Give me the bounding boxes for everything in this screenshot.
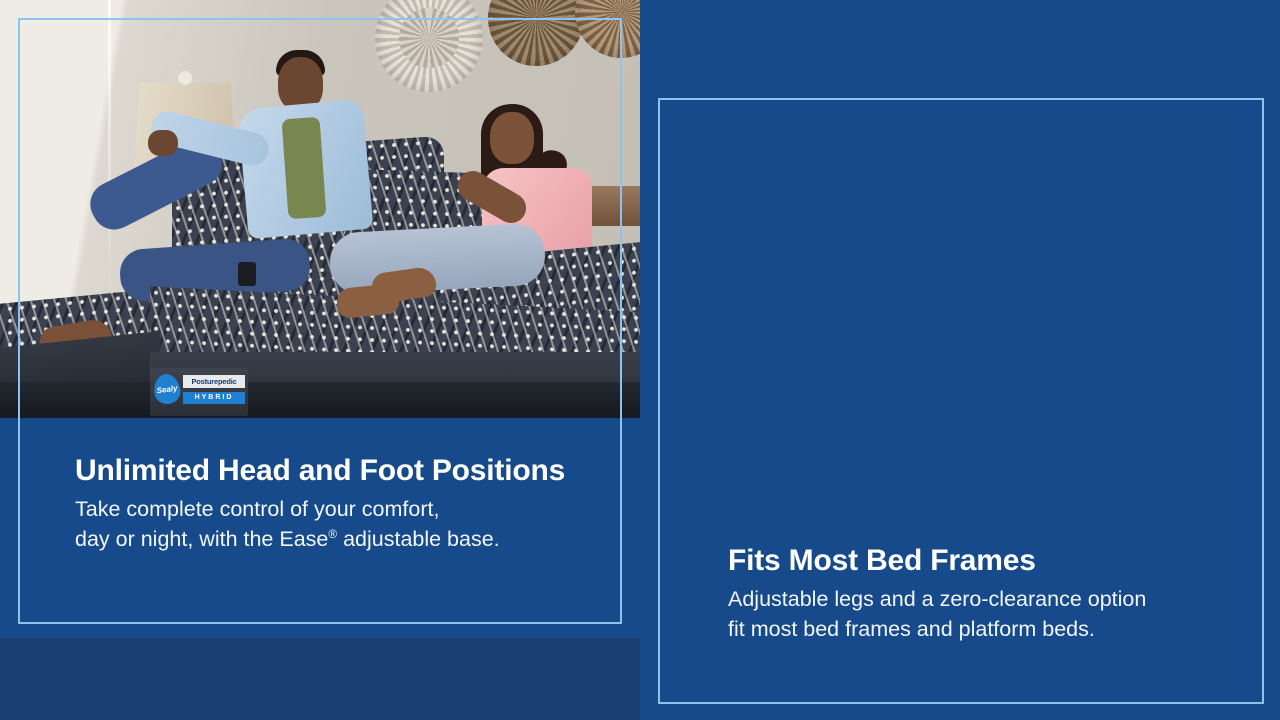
- right-caption-body: Adjustable legs and a zero-clearance opt…: [728, 584, 1248, 645]
- right-feature-panel: Fits Most Bed Frames Adjustable legs and…: [640, 0, 1280, 720]
- posturepedic-text: Posturepedic PLUS: [183, 375, 245, 388]
- left-caption-body: Take complete control of your comfort, d…: [75, 494, 595, 555]
- right-caption-line-1: Adjustable legs and a zero-clearance opt…: [728, 584, 1248, 615]
- person-right-head: [490, 112, 534, 164]
- sealy-brand-text: Sealy: [152, 372, 182, 405]
- promo-banner: Sealy Posturepedic PLUS HYBRID Unlimited…: [0, 0, 1280, 720]
- right-caption-block: Fits Most Bed Frames Adjustable legs and…: [728, 545, 1248, 645]
- adjustable-base-frame: [0, 382, 640, 418]
- hybrid-text: HYBRID: [183, 392, 245, 404]
- left-caption-heading: Unlimited Head and Foot Positions: [75, 455, 595, 487]
- left-lifestyle-photo: Sealy Posturepedic PLUS HYBRID: [0, 0, 640, 418]
- person-left-shirt: [282, 117, 327, 219]
- person-left-hand: [148, 130, 178, 156]
- wall-corner-edge: [108, 0, 111, 300]
- person-right-legs: [329, 222, 547, 295]
- sealy-mattress-label: Sealy Posturepedic PLUS HYBRID: [150, 368, 248, 416]
- right-caption-line-2: fit most bed frames and platform beds.: [728, 614, 1248, 645]
- left-caption-line-1: Take complete control of your comfort,: [75, 494, 595, 525]
- lamp-finial: [178, 71, 192, 85]
- left-caption-line-2-after: adjustable base.: [337, 527, 500, 551]
- left-caption-line-2: day or night, with the Ease® adjustable …: [75, 524, 595, 555]
- sealy-logo-icon: Sealy: [152, 372, 182, 405]
- left-caption-line-2-before: day or night, with the Ease: [75, 527, 328, 551]
- right-caption-heading: Fits Most Bed Frames: [728, 545, 1248, 577]
- left-feature-panel: Sealy Posturepedic PLUS HYBRID Unlimited…: [0, 0, 640, 720]
- bottom-navy-band: [0, 638, 640, 720]
- left-caption-block: Unlimited Head and Foot Positions Take c…: [75, 455, 595, 555]
- registered-trademark-mark: ®: [328, 527, 337, 541]
- smartphone: [238, 262, 256, 286]
